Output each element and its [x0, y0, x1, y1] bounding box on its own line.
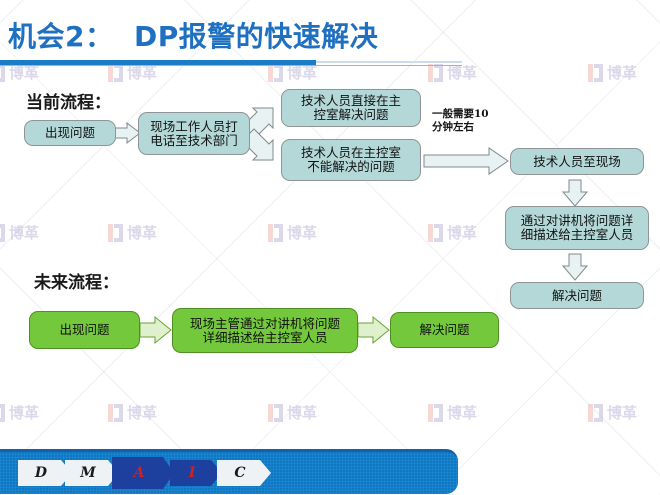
- watermark-text: 博革: [287, 66, 317, 81]
- flow-node-problem-resolved[interactable]: 解决问题: [510, 282, 644, 309]
- bogey-logo-icon: [268, 404, 283, 422]
- arrow-right-problem-to-call: [114, 123, 140, 143]
- bogey-logo-icon: [588, 404, 603, 422]
- footer-bar: D M A I C: [0, 449, 458, 494]
- flow-node-call-tech-dept[interactable]: 现场工作人员打 电话至技术部门: [138, 112, 250, 155]
- watermark-text: 博革: [127, 66, 157, 81]
- watermark: 博革: [428, 404, 477, 422]
- watermark-text: 博革: [127, 226, 157, 241]
- arrow-down-to-resolved: [563, 254, 587, 280]
- flow-node-solved-in-control-room[interactable]: 技术人员直接在主 控室解决问题: [281, 89, 421, 127]
- title-rule-thin: [316, 61, 462, 63]
- dmaic-step-d[interactable]: D: [18, 460, 72, 486]
- title-block: 机会2： DP报警的快速解决: [0, 20, 660, 54]
- watermark: 博革: [268, 224, 317, 242]
- future-node-problem-resolved[interactable]: 解决问题: [390, 312, 499, 348]
- arrow-right-future-2: [358, 317, 389, 343]
- section-label-future-process: 未来流程：: [34, 268, 119, 293]
- watermark: 博革: [0, 404, 39, 422]
- arrow-down-to-intercom: [563, 180, 587, 206]
- annotation-time-required: 一般需要10 分钟左右: [432, 108, 518, 134]
- watermark-text: 博革: [9, 66, 39, 81]
- dmaic-step-d-label: D: [35, 465, 47, 481]
- watermark-text: 博革: [447, 226, 477, 241]
- watermark: 博革: [108, 224, 157, 242]
- flow-node-describe-via-intercom[interactable]: 通过对讲机将问题详 细描述给主控室人员: [505, 206, 649, 250]
- watermark: 博革: [0, 64, 39, 82]
- dmaic-step-a[interactable]: A: [112, 457, 174, 489]
- bogey-logo-icon: [0, 224, 5, 242]
- bogey-logo-icon: [108, 64, 123, 82]
- title-rule-underline: [0, 65, 462, 66]
- bogey-logo-icon: [588, 64, 603, 82]
- watermark: 博革: [108, 404, 157, 422]
- watermark-text: 博革: [607, 66, 637, 81]
- bogey-logo-icon: [268, 64, 283, 82]
- watermark-text: 博革: [447, 406, 477, 421]
- flow-node-problem-occurs[interactable]: 出现问题: [24, 120, 116, 146]
- bogey-logo-icon: [268, 224, 283, 242]
- dmaic-step-i[interactable]: I: [170, 460, 222, 486]
- watermark: 博革: [268, 404, 317, 422]
- watermark: 博革: [0, 224, 39, 242]
- dmaic-step-m[interactable]: M: [65, 460, 119, 486]
- watermark-text: 博革: [287, 226, 317, 241]
- flow-node-tech-to-site[interactable]: 技术人员至现场: [510, 148, 644, 175]
- bogey-logo-icon: [0, 64, 5, 82]
- dmaic-step-a-label: A: [134, 465, 145, 481]
- bogey-logo-icon: [0, 404, 5, 422]
- dmaic-step-c-label: C: [234, 465, 245, 481]
- dmaic-step-m-label: M: [80, 465, 96, 481]
- watermark-text: 博革: [127, 406, 157, 421]
- section-label-current-process: 当前流程：: [26, 88, 111, 113]
- arrow-right-future-1: [140, 317, 171, 343]
- flow-node-not-solved-in-control-room[interactable]: 技术人员在主控室 不能解决的问题: [281, 139, 421, 181]
- arrow-right-to-onsite: [424, 148, 508, 174]
- bogey-logo-icon: [108, 404, 123, 422]
- future-node-problem-occurs[interactable]: 出现问题: [29, 311, 140, 349]
- watermark-text: 博革: [9, 226, 39, 241]
- watermark: 博革: [588, 64, 637, 82]
- watermark-text: 博革: [447, 66, 477, 81]
- watermark: 博革: [268, 64, 317, 82]
- page-title: 机会2： DP报警的快速解决: [0, 20, 660, 54]
- bogey-logo-icon: [428, 224, 443, 242]
- bogey-logo-icon: [428, 404, 443, 422]
- bogey-logo-icon: [428, 64, 443, 82]
- watermark: 博革: [428, 64, 477, 82]
- dmaic-step-c[interactable]: C: [217, 460, 271, 486]
- watermark: 博革: [428, 224, 477, 242]
- watermark-text: 博革: [607, 406, 637, 421]
- future-node-supervisor-intercom[interactable]: 现场主管通过对讲机将问题 详细描述给主控室人员: [172, 308, 358, 353]
- watermark-text: 博革: [9, 406, 39, 421]
- dmaic-step-i-label: I: [189, 465, 196, 481]
- bogey-logo-icon: [108, 224, 123, 242]
- watermark: 博革: [108, 64, 157, 82]
- watermark: 博革: [588, 404, 637, 422]
- watermark-text: 博革: [287, 406, 317, 421]
- slide-canvas: 博革 博革 博革 博革 博革 博革 博革 博革: [0, 0, 660, 495]
